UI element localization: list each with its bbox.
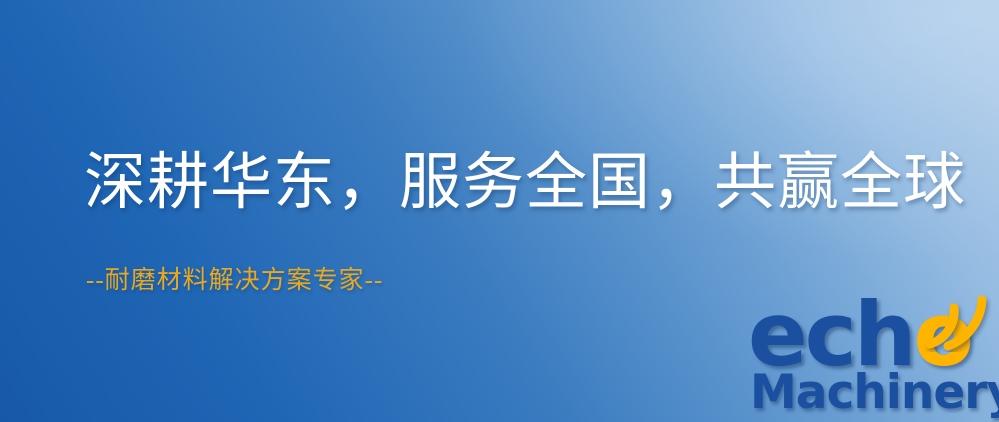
banner-headline: 深耕华东，服务全国，共赢全球 — [84, 152, 966, 214]
hero-banner: 深耕华东，服务全国，共赢全球 --耐磨材料解决方案专家-- echo Machi… — [0, 0, 999, 422]
banner-subtitle: --耐磨材料解决方案专家-- — [86, 268, 383, 293]
logo-tagline-row: Machinery® — [750, 368, 999, 422]
logo-brand-text-ech: ech — [748, 296, 914, 374]
echo-signal-waves-icon — [924, 294, 994, 352]
logo-brand-row: echo — [748, 296, 971, 374]
logo-tagline-text: Machinery — [750, 368, 999, 418]
company-logo[interactable]: echo Machinery® — [748, 296, 999, 422]
